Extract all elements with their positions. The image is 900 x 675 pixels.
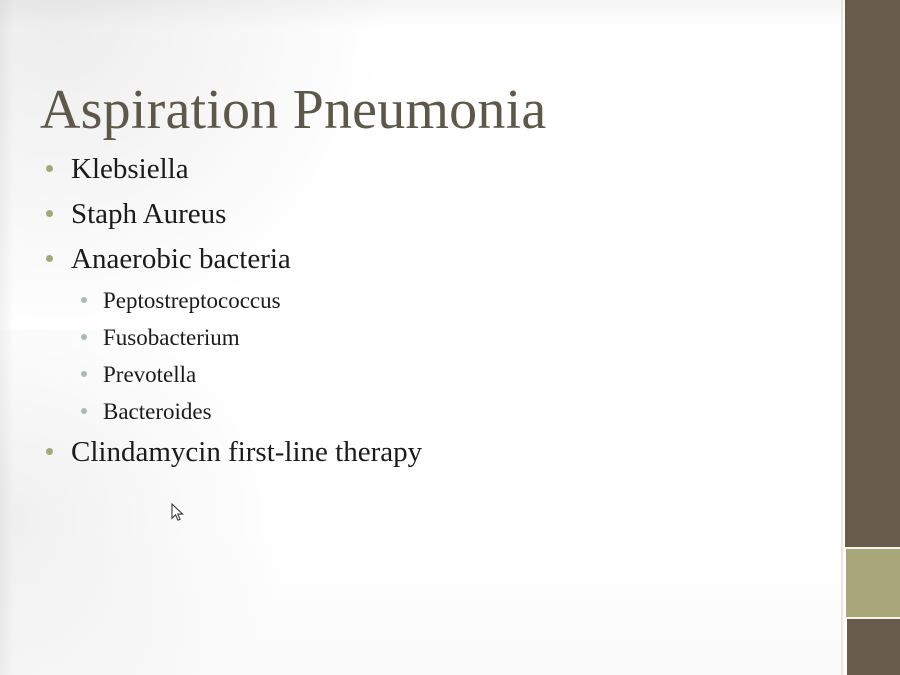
list-item: Fusobacterium bbox=[46, 324, 816, 361]
bullet-marker-icon bbox=[81, 334, 87, 340]
sidebar-block-accent bbox=[846, 549, 900, 617]
bullet-marker-icon bbox=[81, 297, 87, 303]
slide-body-list: Klebsiella Staph Aureus Anaerobic bacter… bbox=[46, 152, 816, 480]
bullet-marker-icon bbox=[46, 255, 53, 262]
list-item-label: Bacteroides bbox=[103, 398, 212, 426]
slide-title: Aspiration Pneumonia bbox=[40, 80, 800, 140]
list-item: Peptostreptococcus bbox=[46, 287, 816, 324]
list-item: Anaerobic bacteria bbox=[46, 242, 816, 287]
list-item-label: Staph Aureus bbox=[71, 197, 226, 231]
list-item-label: Klebsiella bbox=[71, 152, 189, 186]
list-item-label: Anaerobic bacteria bbox=[71, 242, 291, 276]
sidebar-divider-rule bbox=[841, 0, 843, 675]
list-item: Bacteroides bbox=[46, 398, 816, 435]
list-item: Staph Aureus bbox=[46, 197, 816, 242]
list-item-label: Peptostreptococcus bbox=[103, 287, 281, 315]
presentation-slide: Aspiration Pneumonia Klebsiella Staph Au… bbox=[0, 0, 900, 675]
bullet-marker-icon bbox=[81, 408, 87, 414]
list-item-label: Fusobacterium bbox=[103, 324, 240, 352]
sidebar-block-top bbox=[845, 0, 900, 547]
bullet-marker-icon bbox=[46, 210, 53, 217]
bullet-marker-icon bbox=[46, 165, 53, 172]
list-item: Prevotella bbox=[46, 361, 816, 398]
list-item-label: Clindamycin first-line therapy bbox=[71, 435, 422, 469]
list-item-label: Prevotella bbox=[103, 361, 196, 389]
bullet-marker-icon bbox=[81, 371, 87, 377]
list-item: Klebsiella bbox=[46, 152, 816, 197]
list-item: Clindamycin first-line therapy bbox=[46, 435, 816, 480]
sidebar-block-bottom bbox=[847, 619, 900, 675]
bullet-marker-icon bbox=[46, 448, 53, 455]
